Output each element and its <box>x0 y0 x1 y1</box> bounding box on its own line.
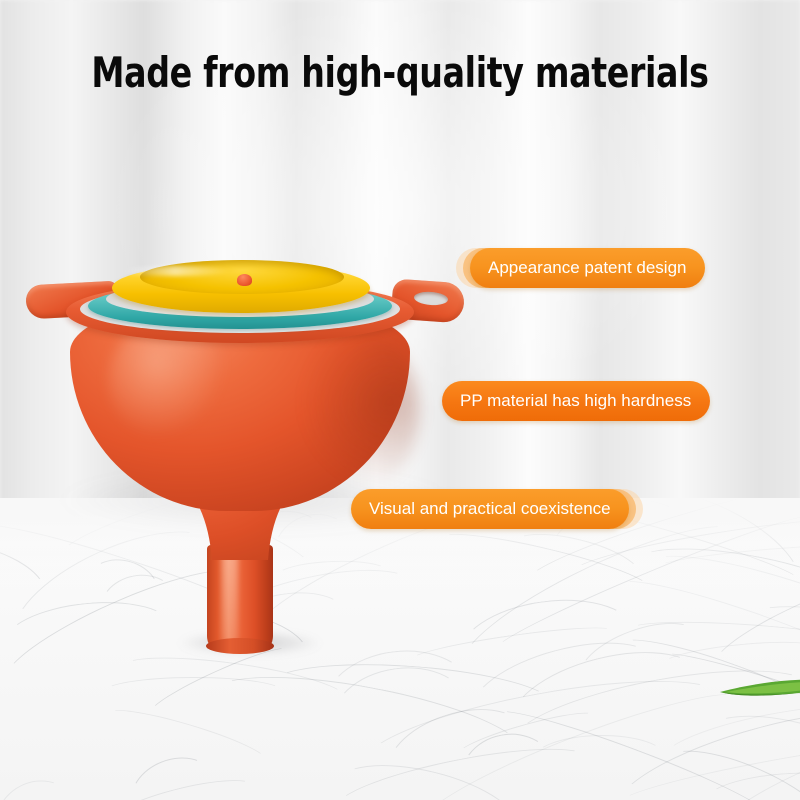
rim-gloss <box>120 266 230 276</box>
feature-badge-pp-material-hardness[interactable]: PP material has high hardness <box>442 381 710 421</box>
funnel-stem <box>207 545 273 650</box>
leaf-icon <box>690 676 800 704</box>
bowl-shading <box>300 330 420 490</box>
stem-base <box>206 638 274 654</box>
product-banner: Made from high-quality materials Appeara… <box>0 0 800 800</box>
feature-badge-label: Visual and practical coexistence <box>351 489 629 529</box>
page-title: Made from high-quality materials <box>48 48 752 97</box>
stem-highlight <box>222 548 238 644</box>
feature-badge-appearance-patent-design[interactable]: Appearance patent design <box>470 248 705 288</box>
feature-badge-label: Appearance patent design <box>470 248 705 288</box>
feature-badge-label: PP material has high hardness <box>442 381 709 421</box>
feature-badge-visual-practical-coexistence[interactable]: Visual and practical coexistence <box>351 489 629 529</box>
center-nub <box>237 274 252 286</box>
